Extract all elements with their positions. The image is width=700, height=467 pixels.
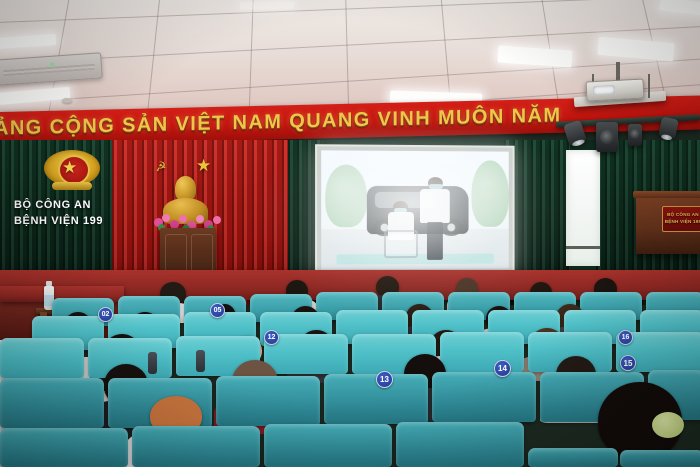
stage-light [658,116,679,139]
seat-armrest [148,352,157,374]
ceiling-light [497,45,572,67]
ceiling-projector [586,78,645,101]
gold-star-icon: ★ [196,157,211,174]
organization-line-1: BỘ CÔNG AN [14,198,103,214]
ceiling-light [0,87,70,105]
projector-mount-arm [648,74,650,98]
seat-number-badge: 13 [376,371,393,388]
slide-tree [325,165,367,227]
emblem-banner [52,182,92,190]
ac-status-led [51,63,54,66]
speaker-cone [630,129,640,139]
ceiling-light [597,37,674,62]
ministry-of-public-security-emblem-icon: ★ [44,146,100,190]
ceiling-cassette-air-conditioner-icon [0,52,103,85]
seat-number-badge: 02 [98,307,113,322]
podium-plaque-line-1: BỘ CÔNG AN [667,212,699,219]
emblem-star-icon: ★ [62,159,77,176]
speaker-cone [600,130,614,144]
smoke-detector-icon [62,98,72,103]
ceiling-light [240,2,294,10]
podium-plaque: BỘ CÔNG AN BỆNH VIỆN 199 [662,206,700,232]
speaker [628,124,642,146]
seat[interactable] [216,376,320,426]
seat[interactable] [440,332,524,372]
ceiling-grid-line [0,0,700,24]
seat[interactable] [528,448,618,467]
bottle-cap [46,281,52,286]
seat[interactable] [432,372,536,422]
organization-line-2: BỆNH VIỆN 199 [14,214,103,230]
conference-hall-photo: ẢNG CỘNG SẢN VIỆT NAM QUANG VINH MUÔN NĂ… [0,0,700,467]
projected-slide [321,150,509,269]
seat-number-badge: 15 [620,355,636,371]
backdrop-organization-name: BỘ CÔNG AN BỆNH VIỆN 199 [14,198,103,230]
podium-top [633,191,700,198]
seat[interactable] [0,378,104,428]
seat-number-badge: 14 [494,360,511,377]
hair-scrunchie [652,412,684,438]
slide-person-seated [386,201,416,258]
ceiling-grid-line [248,0,254,118]
projection-screen [315,144,515,276]
seat[interactable] [132,426,260,467]
slide-suv [367,186,468,233]
seat-number-badge: 12 [264,330,279,345]
window-frame [566,246,600,249]
banner-text: ẢNG CỘNG SẢN VIỆT NAM QUANG VINH MUÔN NĂ… [0,104,561,140]
slide-tree [472,161,509,227]
hammer-and-sickle-icon: ☭ [154,159,167,173]
projector-lens [593,85,615,95]
seat[interactable] [620,450,700,467]
seat[interactable] [264,424,392,467]
seat-number-badge: 16 [618,330,633,345]
ceiling-grid-line [145,0,161,118]
speaker [596,122,618,152]
seat[interactable] [0,428,128,467]
slide-person-standing [420,177,452,260]
ac-vent [3,63,95,76]
seat[interactable] [0,338,84,378]
ceiling-grid-line [0,23,700,66]
seat-number-badge: 05 [210,303,225,318]
seat-armrest [196,350,205,372]
ceiling-light [659,0,700,16]
podium: BỘ CÔNG AN BỆNH VIỆN 199 [636,196,700,254]
podium-plaque-line-2: BỆNH VIỆN 199 [665,219,700,226]
ceiling-grid-line [345,0,350,118]
ceiling-light [0,34,56,49]
seat[interactable] [396,422,524,467]
